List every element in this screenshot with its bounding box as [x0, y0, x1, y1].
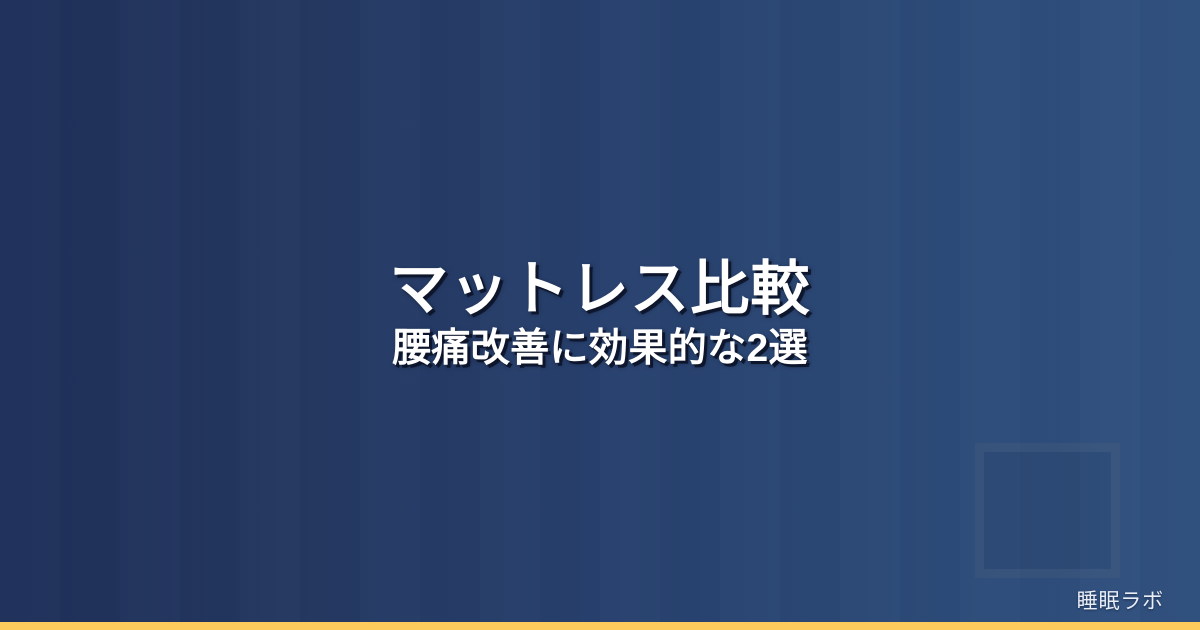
hero-title-block: マットレス比較 腰痛改善に効果的な2選: [0, 258, 1200, 371]
og-image-card: マットレス比較 腰痛改善に効果的な2選 睡眠ラボ: [0, 0, 1200, 630]
page-subtitle: 腰痛改善に効果的な2選: [60, 328, 1140, 371]
page-title: マットレス比較: [60, 258, 1140, 322]
bottom-accent-bar: [0, 622, 1200, 630]
decorative-square: [975, 443, 1120, 578]
site-name-label: 睡眠ラボ: [1077, 591, 1164, 612]
